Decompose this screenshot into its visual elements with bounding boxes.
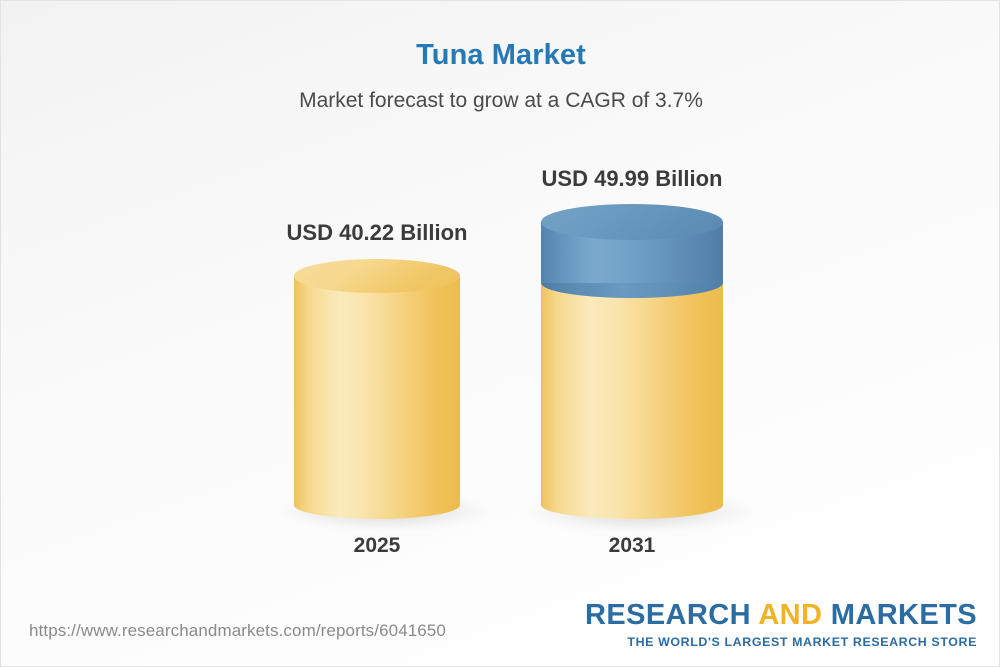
cylinder-body-base [541,283,723,505]
brand-name-part1: RESEARCH [585,599,758,631]
chart-canvas: Tuna Market Market forecast to grow at a… [0,0,1000,667]
category-label-2031: 2031 [542,534,722,558]
brand-name-accent: AND [758,599,822,631]
plot-area: USD 40.22 Billion 2025 USD 49.99 Billion [1,1,1000,601]
source-url[interactable]: https://www.researchandmarkets.com/repor… [29,621,446,641]
brand-name: RESEARCH AND MARKETS [585,601,977,630]
brand-name-part2: MARKETS [822,599,977,631]
cylinder-top-ellipse [541,204,723,240]
bar-group-2031: USD 49.99 Billion 2031 [1,1,1000,601]
brand-logo[interactable]: RESEARCH AND MARKETS THE WORLD'S LARGEST… [585,601,977,649]
bar-value-label-2031: USD 49.99 Billion [492,166,772,192]
cylinder-bar-2031[interactable] [541,204,723,519]
brand-tagline: THE WORLD'S LARGEST MARKET RESEARCH STOR… [585,635,977,649]
